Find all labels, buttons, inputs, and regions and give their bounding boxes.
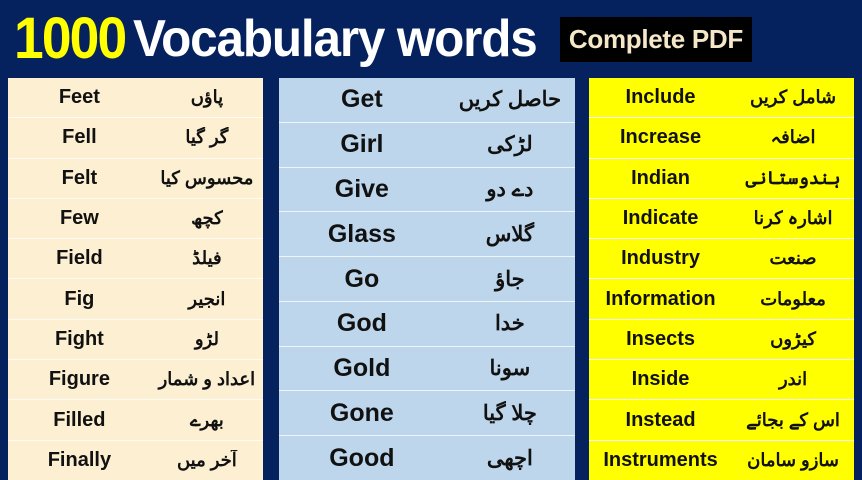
word-row: Figانجیر (8, 278, 263, 318)
word-row: Informationمعلومات (589, 278, 854, 318)
word-row: Insteadاس کے بجائے (589, 399, 854, 439)
english-word: Instruments (589, 449, 732, 472)
urdu-translation: لڑکی (445, 132, 575, 157)
word-column-blue: Getحاصل کریںGirlلڑکیGiveدے دوGlassگلاسGo… (279, 78, 575, 480)
english-word: Fight (8, 328, 151, 351)
urdu-translation: سازو سامان (732, 450, 854, 471)
urdu-translation: دے دو (445, 177, 575, 202)
english-word: Insects (589, 328, 732, 351)
word-row: Fieldفیلڈ (8, 238, 263, 278)
urdu-translation: گر گیا (151, 127, 263, 148)
english-word: Gold (279, 354, 445, 383)
word-row: Fellگر گیا (8, 117, 263, 157)
english-word: Few (8, 207, 151, 230)
english-word: Indicate (589, 207, 732, 230)
english-word: Increase (589, 126, 732, 149)
word-row: Figureاعداد و شمار (8, 359, 263, 399)
english-word: Feet (8, 86, 151, 109)
english-word: Felt (8, 167, 151, 190)
word-row: Girlلڑکی (279, 122, 575, 167)
word-row: Goneچلا گیا (279, 390, 575, 435)
vocabulary-poster: 1000 Vocabulary words Complete PDF Feetپ… (0, 0, 862, 480)
english-word: Include (589, 86, 732, 109)
english-word: Gone (279, 399, 445, 428)
word-row: Feltمحسوس کیا (8, 158, 263, 198)
page-title: Vocabulary words (133, 13, 537, 65)
word-row: Insectsکیڑوں (589, 319, 854, 359)
english-word: Information (589, 288, 732, 311)
urdu-translation: پاؤں (151, 87, 263, 108)
word-row: Instrumentsسازو سامان (589, 440, 854, 480)
urdu-translation: صنعت (732, 248, 854, 269)
word-row: Giveدے دو (279, 167, 575, 212)
poster-header: 1000 Vocabulary words Complete PDF (0, 0, 862, 78)
word-row: Goجاؤ (279, 256, 575, 301)
urdu-translation: کچھ (151, 208, 263, 229)
urdu-translation: بھرے (151, 410, 263, 431)
word-row: Feetپاؤں (8, 78, 263, 117)
urdu-translation: گلاس (445, 222, 575, 247)
word-row: Glassگلاس (279, 211, 575, 256)
english-word: Glass (279, 220, 445, 249)
english-word: Give (279, 175, 445, 204)
english-word: Indian (589, 167, 732, 190)
urdu-translation: اضافہ (732, 127, 854, 148)
word-row: Fewکچھ (8, 198, 263, 238)
word-row: Fightلڑو (8, 319, 263, 359)
english-word: Go (279, 265, 445, 294)
urdu-translation: جاؤ (445, 267, 575, 292)
english-word: Fig (8, 288, 151, 311)
word-row: Indicateاشارہ کرنا (589, 198, 854, 238)
english-word: Good (279, 444, 445, 473)
word-row: Industryصنعت (589, 238, 854, 278)
word-columns: FeetپاؤںFellگر گیاFeltمحسوس کیاFewکچھFie… (0, 78, 862, 480)
urdu-translation: فیلڈ (151, 248, 263, 269)
status-badge: Complete PDF (560, 17, 752, 62)
english-word: Figure (8, 368, 151, 391)
urdu-translation: حاصل کریں (445, 87, 575, 112)
urdu-translation: سونا (445, 356, 575, 381)
word-row: Filledبھرے (8, 399, 263, 439)
word-row: Goodاچھی (279, 435, 575, 480)
english-word: Fell (8, 126, 151, 149)
urdu-translation: اعداد و شمار (151, 369, 263, 390)
urdu-translation: انجیر (151, 289, 263, 310)
english-word: Get (279, 85, 445, 114)
urdu-translation: معلومات (732, 289, 854, 310)
urdu-translation: کیڑوں (732, 329, 854, 350)
urdu-translation: محسوس کیا (151, 168, 263, 189)
english-word: Finally (8, 449, 151, 472)
word-row: Getحاصل کریں (279, 78, 575, 122)
word-row: Increaseاضافہ (589, 117, 854, 157)
english-word: Girl (279, 130, 445, 159)
urdu-translation: چلا گیا (445, 401, 575, 426)
english-word: Instead (589, 409, 732, 432)
word-row: Godخدا (279, 301, 575, 346)
urdu-translation: اس کے بجائے (732, 410, 854, 431)
english-word: Industry (589, 247, 732, 270)
word-row: Indianہندوستانی (589, 158, 854, 198)
word-column-cream: FeetپاؤںFellگر گیاFeltمحسوس کیاFewکچھFie… (8, 78, 263, 480)
urdu-translation: اچھی (445, 446, 575, 471)
urdu-translation: ہندوستانی (732, 168, 854, 189)
word-column-yellow: Includeشامل کریںIncreaseاضافہIndianہندوس… (589, 78, 854, 480)
urdu-translation: اشارہ کرنا (732, 208, 854, 229)
urdu-translation: لڑو (151, 329, 263, 350)
word-row: Goldسونا (279, 346, 575, 391)
english-word: Inside (589, 368, 732, 391)
english-word: Field (8, 247, 151, 270)
word-row: Finallyآخر میں (8, 440, 263, 480)
urdu-translation: آخر میں (151, 450, 263, 471)
title-count: 1000 (14, 10, 125, 68)
urdu-translation: شامل کریں (732, 87, 854, 108)
english-word: Filled (8, 409, 151, 432)
urdu-translation: خدا (445, 311, 575, 336)
word-row: Insideاندر (589, 359, 854, 399)
word-row: Includeشامل کریں (589, 78, 854, 117)
urdu-translation: اندر (732, 369, 854, 390)
english-word: God (279, 309, 445, 338)
